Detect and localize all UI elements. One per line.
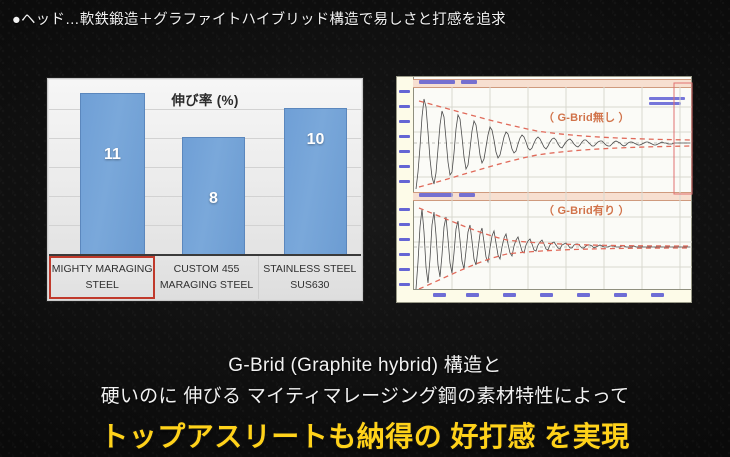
bar-chart-plot-area: 伸び率 (%) 11 8 10 (49, 80, 361, 254)
x-tick (577, 293, 590, 297)
bar-value-label: 10 (285, 131, 346, 149)
caption-line-1: G-Brid (Graphite hybrid) 構造と (0, 350, 730, 377)
waveform-trace-bottom (416, 209, 690, 289)
category-label-line: STAINLESS STEEL (263, 262, 356, 277)
wave-chart-inner: （ G-Brid無し ） （ G-Brid有り ） (397, 77, 691, 302)
envelope-lower-top (419, 146, 691, 187)
bar-chart-category-labels: MIGHTY MARAGING STEEL CUSTOM 455 MARAGIN… (49, 256, 361, 299)
slide-root: ●ヘッド…軟鉄鍛造＋グラファイトハイブリッド構造で易しさと打感を追求 伸び率 (… (0, 0, 730, 457)
x-tick (651, 293, 664, 297)
category-label-stainless-steel-sus630: STAINLESS STEEL SUS630 (259, 256, 361, 299)
category-label-line: CUSTOM 455 (174, 262, 240, 277)
category-label-line: STEEL (86, 278, 119, 293)
bar-custom-455-maraging-steel: 8 (182, 137, 245, 254)
caption-line-2: 硬いのに 伸びる マイティマレージング鋼の素材特性によって (0, 381, 730, 408)
category-label-line: SUS630 (290, 278, 329, 293)
wave-chart-x-axis (413, 289, 691, 302)
category-label-line: MIGHTY MARAGING (52, 262, 153, 277)
x-tick (540, 293, 553, 297)
bar-value-label: 11 (81, 146, 144, 164)
category-label-mighty-maraging-steel: MIGHTY MARAGING STEEL (49, 256, 155, 299)
bar-mighty-maraging-steel: 11 (80, 93, 145, 254)
x-tick (433, 293, 446, 297)
x-tick (503, 293, 516, 297)
x-tick (614, 293, 627, 297)
vibration-damping-chart: （ G-Brid無し ） （ G-Brid有り ） (396, 76, 692, 303)
subchart-bottom-traces (414, 208, 692, 289)
category-label-line: MARAGING STEEL (160, 278, 253, 293)
bar-stainless-steel-sus630: 10 (284, 108, 347, 254)
tagline-text: トップアスリートも納得の 好打感 を実現 (0, 415, 730, 455)
subchart-label-no-gbrid: （ G-Brid無し ） (543, 109, 630, 125)
bar-value-label: 8 (183, 190, 244, 208)
elongation-bar-chart: 伸び率 (%) 11 8 10 MIGHTY MARAGING STEEL CU… (47, 78, 363, 301)
x-tick (466, 293, 479, 297)
category-label-custom-455-maraging-steel: CUSTOM 455 MARAGING STEEL (155, 256, 258, 299)
headline-text: ●ヘッド…軟鉄鍛造＋グラファイトハイブリッド構造で易しさと打感を追求 (12, 8, 722, 29)
envelope-lower-bottom (419, 248, 691, 289)
subchart-label-with-gbrid: （ G-Brid有り ） (543, 202, 630, 218)
